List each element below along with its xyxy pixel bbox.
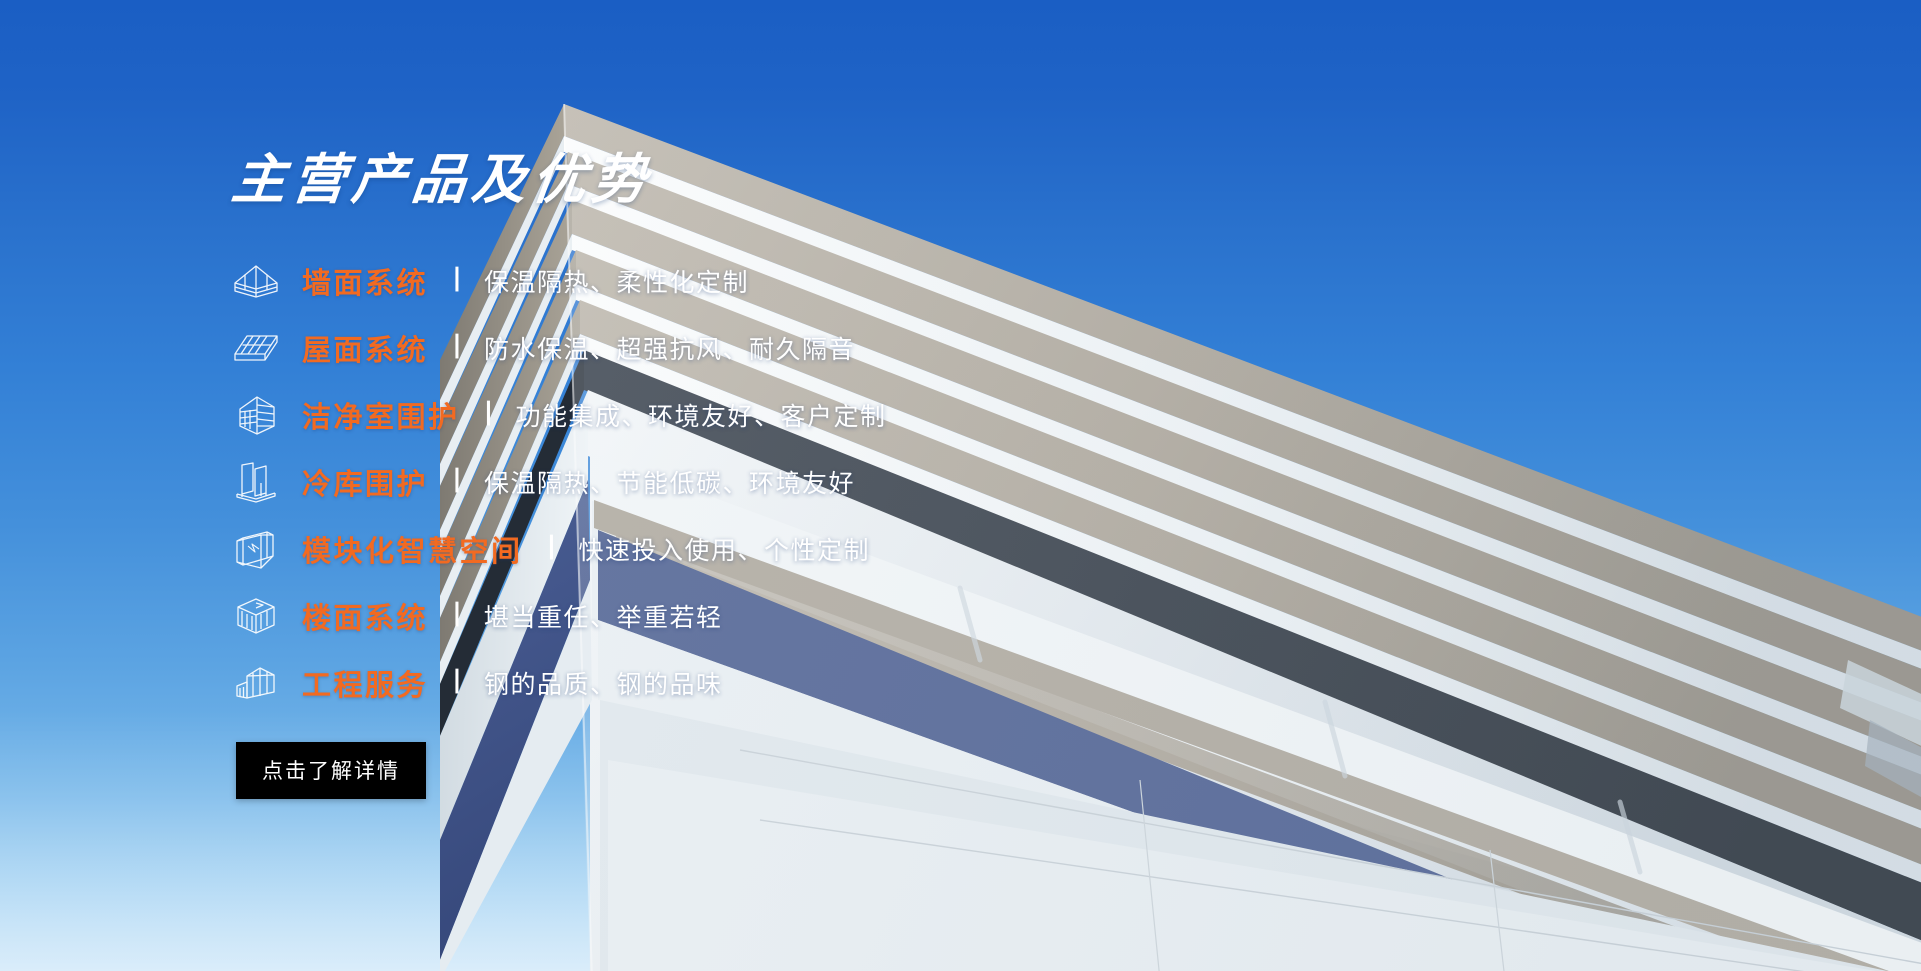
cold-storage-icon (232, 460, 280, 504)
engineering-service-icon (232, 661, 280, 705)
feature-desc: 保温隔热、节能低碳、环境友好 (484, 464, 855, 500)
roof-system-icon (232, 326, 280, 370)
learn-more-button[interactable]: 点击了解详情 (236, 742, 426, 799)
cleanroom-icon (232, 393, 280, 437)
feature-name: 楼面系统 (302, 595, 428, 637)
feature-separator: 丨 (444, 468, 470, 494)
hero-banner: 主营产品及优势 墙面系统 丨 保温隔热、柔性化定制 (0, 0, 1921, 971)
feature-desc: 钢的品质、钢的品味 (484, 665, 723, 701)
feature-name: 屋面系统 (302, 327, 428, 369)
feature-row-cleanroom[interactable]: 洁净室围护 丨 功能集成、环境友好、客户定制 (232, 381, 1232, 448)
feature-row-engineering-service[interactable]: 工程服务 丨 钢的品质、钢的品味 (232, 649, 1232, 716)
feature-row-roof-system[interactable]: 屋面系统 丨 防水保温、超强抗风、耐久隔音 (232, 314, 1232, 381)
feature-separator: 丨 (444, 267, 470, 293)
feature-row-cold-storage[interactable]: 冷库围护 丨 保温隔热、节能低碳、环境友好 (232, 448, 1232, 515)
feature-name: 工程服务 (302, 662, 428, 704)
feature-name: 墙面系统 (302, 260, 428, 302)
feature-row-wall-system[interactable]: 墙面系统 丨 保温隔热、柔性化定制 (232, 247, 1232, 314)
feature-desc: 防水保温、超强抗风、耐久隔音 (484, 330, 855, 366)
feature-separator: 丨 (444, 334, 470, 360)
floor-system-icon (232, 594, 280, 638)
feature-separator: 丨 (444, 669, 470, 695)
feature-separator: 丨 (539, 535, 565, 561)
feature-name: 模块化智慧空间 (302, 528, 523, 570)
feature-desc: 快速投入使用、个性定制 (579, 531, 871, 567)
feature-desc: 功能集成、环境友好、客户定制 (516, 397, 887, 433)
feature-row-modular-space[interactable]: 模块化智慧空间 丨 快速投入使用、个性定制 (232, 515, 1232, 582)
wall-system-icon (232, 259, 280, 303)
hero-content: 主营产品及优势 墙面系统 丨 保温隔热、柔性化定制 (232, 150, 1232, 799)
feature-name: 洁净室围护 (302, 394, 460, 436)
feature-row-floor-system[interactable]: 楼面系统 丨 堪当重任、举重若轻 (232, 582, 1232, 649)
feature-separator: 丨 (476, 401, 502, 427)
page-title: 主营产品及优势 (229, 150, 1235, 209)
feature-separator: 丨 (444, 602, 470, 628)
feature-desc: 堪当重任、举重若轻 (484, 598, 723, 634)
modular-space-icon (232, 527, 280, 571)
feature-name: 冷库围护 (302, 461, 428, 503)
feature-desc: 保温隔热、柔性化定制 (484, 263, 749, 299)
feature-list: 墙面系统 丨 保温隔热、柔性化定制 屋面系统 (232, 247, 1232, 716)
